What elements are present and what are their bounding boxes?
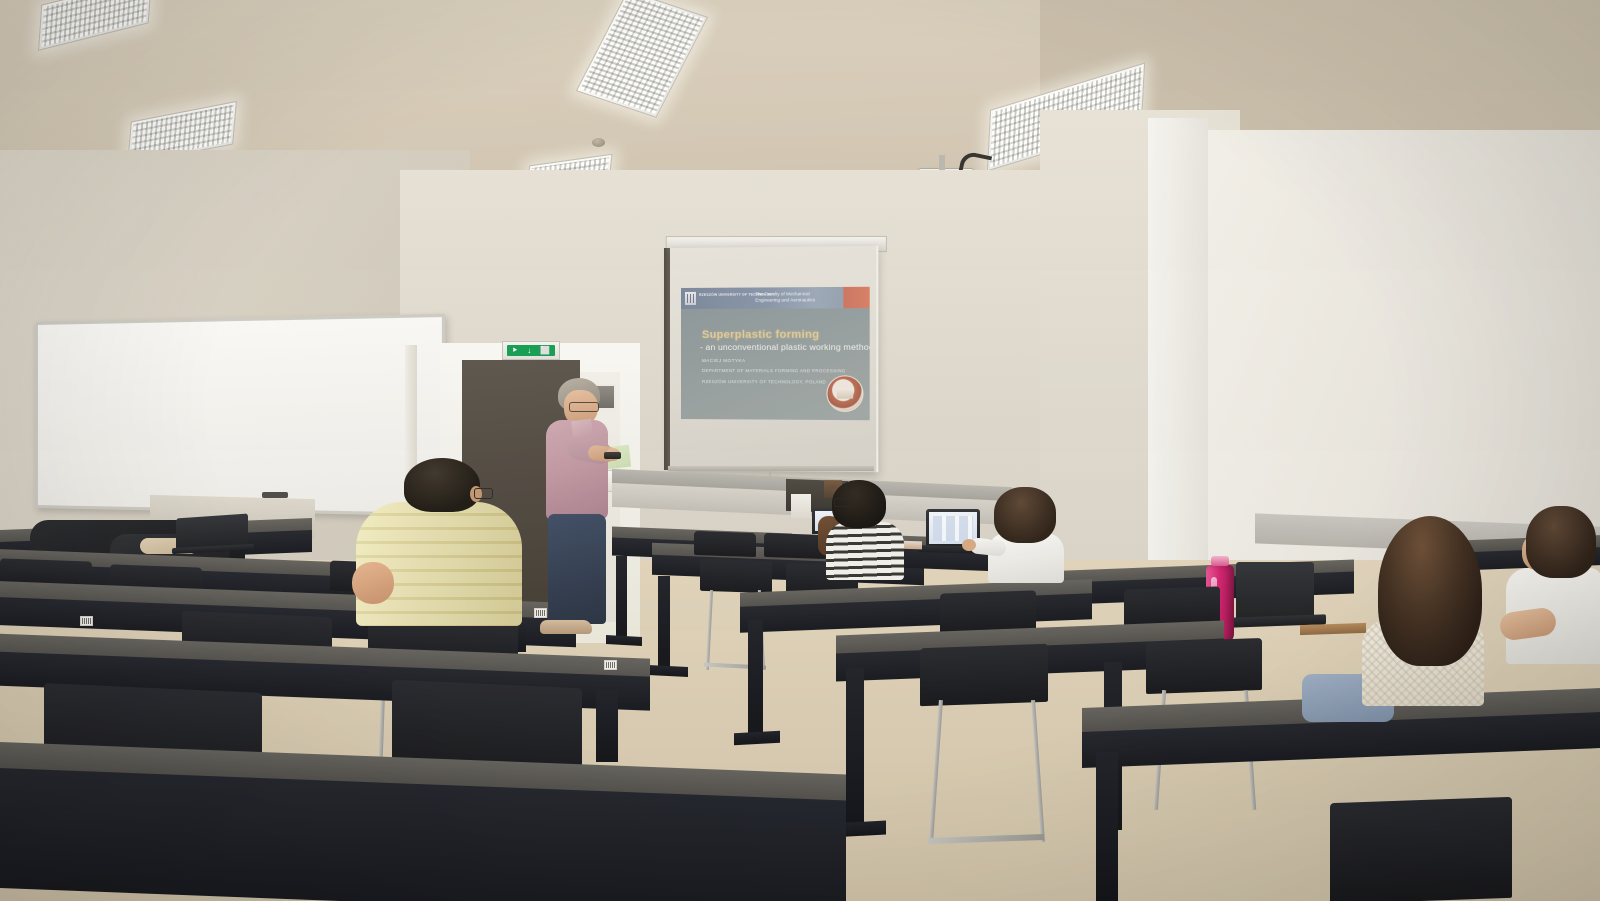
presenter-glasses-icon — [569, 402, 599, 412]
chair-mid-3[interactable] — [700, 559, 772, 594]
chair-right-3[interactable] — [920, 644, 1048, 706]
presenter-remote — [604, 452, 621, 459]
faculty-line-2: Engineering and Aeronautics — [755, 297, 815, 302]
desk-right-mid-leg — [748, 620, 763, 740]
smoke-detector-icon — [592, 138, 605, 147]
exit-door-icon: ⬜ — [540, 347, 550, 355]
chair-right-1[interactable] — [940, 590, 1036, 633]
student-striped-shirt — [826, 522, 904, 580]
desk-right-front-leg — [846, 668, 864, 830]
desk-leg-b-foot — [648, 665, 688, 677]
student-white-hand — [962, 539, 976, 551]
projection-screen-bar — [668, 466, 874, 471]
slide-title: Superplastic forming — [702, 329, 819, 341]
laptop-mid-center-content — [933, 516, 973, 541]
laptop-right-lid[interactable] — [1236, 562, 1314, 620]
equipment-box — [791, 494, 811, 518]
presenter-collar — [571, 419, 593, 438]
slide-faculty-line: The Faculty of Mechanical Engineering an… — [755, 291, 815, 303]
student-yellow-arm — [352, 562, 394, 604]
chair-mid-1[interactable] — [694, 531, 756, 557]
desk-leg-a — [616, 556, 627, 642]
student-yellow-glasses-icon — [474, 488, 493, 499]
chair-far-right[interactable] — [1330, 797, 1512, 901]
desk-left-row3-leg — [596, 690, 618, 762]
inventory-label-3 — [604, 660, 617, 670]
desk-leg-a-foot — [606, 635, 642, 646]
person-student-edge — [1500, 506, 1600, 696]
desk-right-mid-foot — [734, 731, 780, 745]
whiteboard-marker[interactable] — [262, 492, 288, 498]
bottle-cap — [1211, 556, 1229, 566]
student-yellow-hair — [404, 458, 480, 512]
person-student-striped — [812, 480, 908, 576]
inventory-label-1 — [80, 616, 93, 626]
person-student-white-blouse — [986, 487, 1066, 579]
person-student-yellow — [352, 458, 524, 624]
emergency-exit-sign: ⯈ ↓ ⬜ — [502, 341, 560, 360]
presenter-shoe — [540, 620, 592, 634]
presentation-slide: RZESZÓW UNIVERSITY OF TECHNOLOGY The Fac… — [681, 287, 870, 420]
classroom-photo: ⯈ ↓ ⬜ RZESZÓW UNIVERSITY OF TECHNOLOGY T… — [0, 0, 1600, 901]
person-student-sweater — [1360, 516, 1510, 716]
university-logo-icon — [685, 292, 696, 305]
desk-far-right-leg — [1096, 752, 1118, 901]
presenter-trousers — [548, 514, 606, 624]
student-striped-glasses-icon — [834, 498, 852, 507]
slide-subtitle: - an unconventional plastic working meth… — [700, 342, 870, 352]
student-sweater-hair — [1378, 516, 1482, 666]
student-white-hair — [994, 487, 1056, 543]
desk-leg-b — [658, 576, 670, 672]
faculty-line-1: The Faculty of Mechanical — [755, 291, 809, 296]
slide-header: RZESZÓW UNIVERSITY OF TECHNOLOGY The Fac… — [681, 287, 870, 309]
running-man-icon: ⯈ — [512, 347, 518, 355]
exit-arrow-icon: ↓ — [527, 347, 531, 355]
slide-department: DEPARTMENT OF MATERIALS FORMING AND PROC… — [702, 368, 846, 374]
person-presenter — [528, 378, 604, 640]
slide-author: MACIEJ MOTYKA — [702, 358, 746, 364]
student-edge-hair — [1526, 506, 1596, 578]
chair-right-4[interactable] — [1146, 638, 1262, 694]
slide-institution: RZESZÓW UNIVERSITY OF TECHNOLOGY, POLAND — [702, 379, 826, 385]
university-seal-icon — [826, 375, 863, 412]
